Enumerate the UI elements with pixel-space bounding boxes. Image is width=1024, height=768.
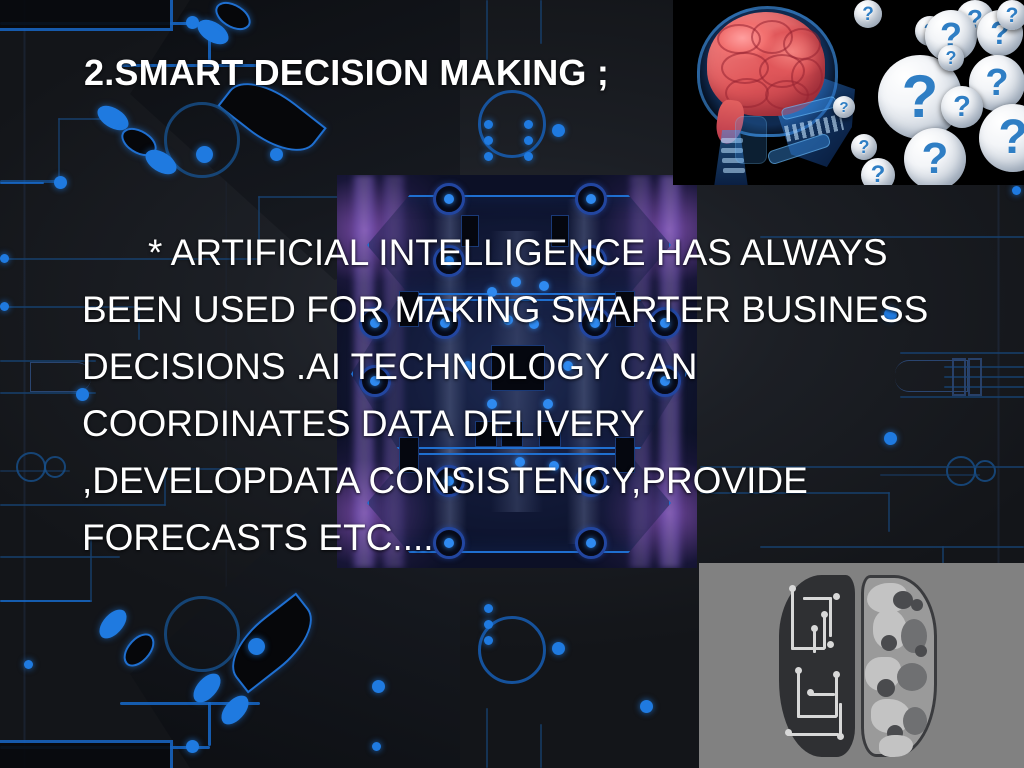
question-mark-sphere: ? <box>997 0 1024 30</box>
question-mark-sphere: ? <box>854 0 882 28</box>
body-line: ,DEVELOPDATA CONSISTENCY,PROVIDE <box>82 452 994 509</box>
brain-question-marks-photo: ??????????????? <box>673 0 1024 185</box>
page-title: 2.SMART DECISION MAKING ; <box>84 52 609 94</box>
body-line: DECISIONS .AI TECHNOLOGY CAN <box>82 338 994 395</box>
question-mark-sphere: ? <box>833 96 855 118</box>
body-line: COORDINATES DATA DELIVERY <box>82 395 994 452</box>
question-mark-sphere: ? <box>941 86 983 128</box>
circuit-hemisphere <box>779 575 855 757</box>
question-mark-sphere: ? <box>938 45 964 71</box>
body-line: BEEN USED FOR MAKING SMARTER BUSINESS <box>82 281 994 338</box>
question-mark-sphere: ? <box>904 128 966 185</box>
question-mark-sphere: ? <box>979 104 1024 172</box>
body-line: * ARTIFICIAL INTELLIGENCE HAS ALWAYS <box>82 224 994 281</box>
body-line: FORECASTS ETC.... <box>82 509 994 566</box>
question-mark-sphere: ? <box>851 134 877 160</box>
slide-body-text: * ARTIFICIAL INTELLIGENCE HAS ALWAYS BEE… <box>82 224 994 566</box>
organic-hemisphere <box>861 575 937 757</box>
xray-skull-illustration <box>681 2 856 185</box>
presentation-slide: ??????????????? <box>0 0 1024 768</box>
question-mark-sphere: ? <box>861 158 895 185</box>
ai-brain-circuit-graphic <box>699 563 1024 768</box>
